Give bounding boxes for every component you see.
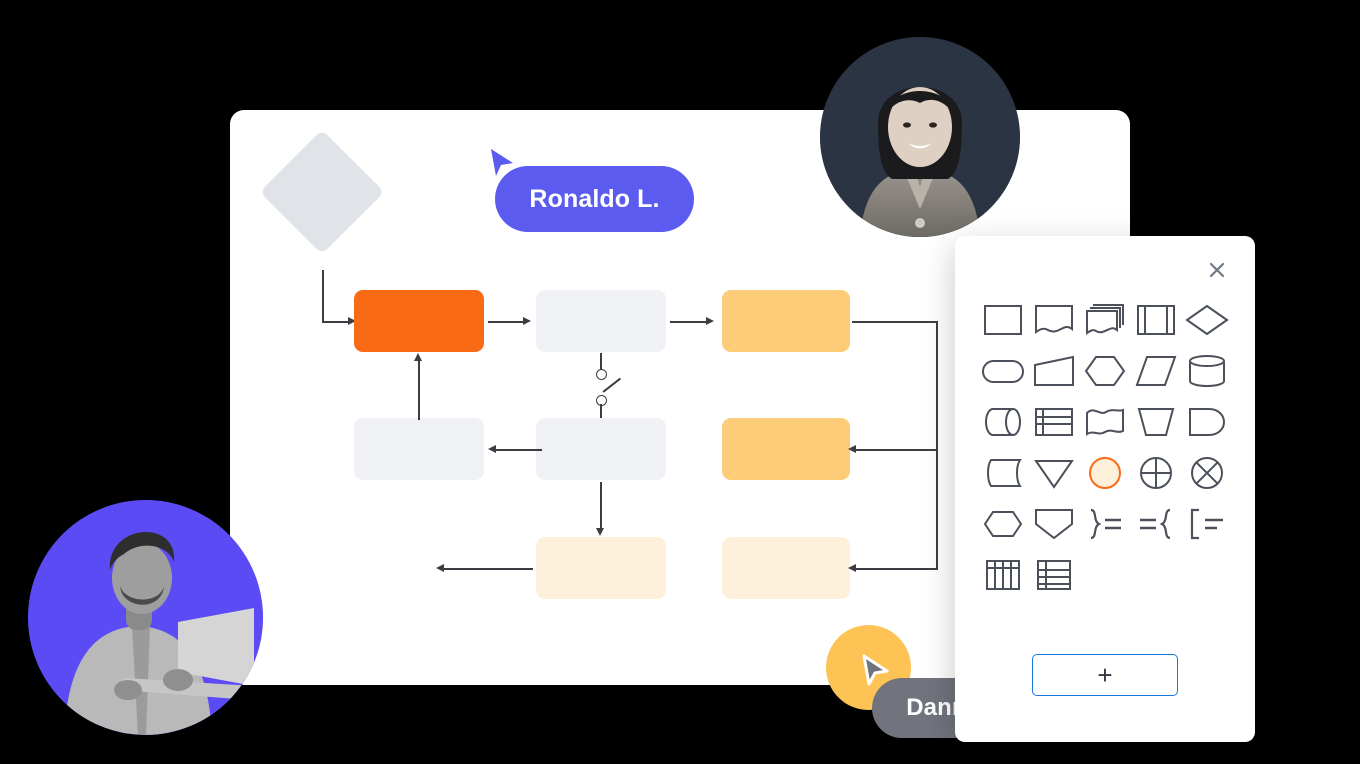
connector-arrow (706, 317, 714, 325)
diagram-node-n4[interactable] (354, 418, 484, 480)
relay-switch-contact-upper (596, 369, 607, 380)
manual-operation-shape[interactable] (1131, 404, 1182, 439)
stored-data-shape[interactable] (977, 455, 1028, 490)
close-icon[interactable] (1203, 256, 1231, 284)
inverted-triangle-shape[interactable] (1028, 455, 1079, 490)
summing-junction-shape[interactable] (1131, 455, 1182, 490)
connector-arrow (436, 564, 444, 572)
direct-access-shape[interactable] (977, 404, 1028, 439)
document-shape[interactable] (1028, 302, 1079, 337)
connector-arrow (596, 528, 604, 536)
circle-shape[interactable] (1079, 455, 1130, 490)
connector-arrow (523, 317, 531, 325)
diagram-node-n8[interactable] (722, 537, 850, 599)
connector-segment (936, 321, 938, 569)
multi-document-shape[interactable] (1079, 302, 1130, 337)
connector-segment (496, 449, 542, 451)
trapezoid-shape[interactable] (1028, 353, 1079, 388)
connector-segment (852, 321, 938, 323)
connector-segment (418, 360, 420, 420)
connector-segment (322, 270, 324, 323)
connector-segment (443, 568, 533, 570)
diagram-node-n2[interactable] (536, 290, 666, 352)
avatar-photo-man (28, 500, 263, 735)
connector-segment (488, 321, 526, 323)
internal-storage-shape[interactable] (1131, 302, 1182, 337)
connector-segment (854, 449, 938, 451)
diagram-node-n1[interactable] (354, 290, 484, 352)
pentagon-down-shape[interactable] (1028, 506, 1079, 541)
connector-segment (670, 321, 708, 323)
avatar-collaborator-man[interactable] (28, 500, 263, 735)
app-root: Ronaldo L. Danny M. (0, 0, 1360, 764)
connector-arrow (488, 445, 496, 453)
parallelogram-shape[interactable] (1131, 353, 1182, 388)
or-junction-shape[interactable] (1182, 455, 1233, 490)
diagram-node-n3[interactable] (722, 290, 850, 352)
rectangle-shape[interactable] (977, 302, 1028, 337)
shapes-panel: + (955, 236, 1255, 742)
bracket-list-shape[interactable] (1182, 506, 1233, 541)
brace-left-shape[interactable] (1131, 506, 1182, 541)
connector-arrow (848, 564, 856, 572)
diagram-node-start[interactable] (260, 130, 384, 254)
diagram-node-n6[interactable] (722, 418, 850, 480)
delay-shape[interactable] (1182, 404, 1233, 439)
avatar-collaborator-woman[interactable] (820, 37, 1020, 237)
connector-segment (854, 568, 938, 570)
avatar-photo-woman (820, 37, 1020, 237)
hexagon-shape[interactable] (1079, 353, 1130, 388)
wave-document-shape[interactable] (1079, 404, 1130, 439)
add-shape-button[interactable]: + (1032, 654, 1178, 696)
columns-table-shape[interactable] (977, 557, 1028, 592)
connector-segment (600, 482, 602, 530)
cursor-label-text: Ronaldo L. (529, 185, 659, 214)
relay-switch-lever (603, 378, 621, 393)
rows-table-shape[interactable] (1028, 557, 1079, 592)
connector-arrow (414, 353, 422, 361)
connector-arrow (848, 445, 856, 453)
brace-right-shape[interactable] (1079, 506, 1130, 541)
diagram-node-n5[interactable] (536, 418, 666, 480)
database-cylinder-shape[interactable] (1182, 353, 1233, 388)
shape-palette-grid (977, 302, 1233, 592)
preparation-shape[interactable] (977, 506, 1028, 541)
terminator-shape[interactable] (977, 353, 1028, 388)
diagram-node-n7[interactable] (536, 537, 666, 599)
decision-diamond-shape[interactable] (1182, 302, 1233, 337)
cursor-label-ronaldo[interactable]: Ronaldo L. (495, 166, 694, 232)
table-shape[interactable] (1028, 404, 1079, 439)
